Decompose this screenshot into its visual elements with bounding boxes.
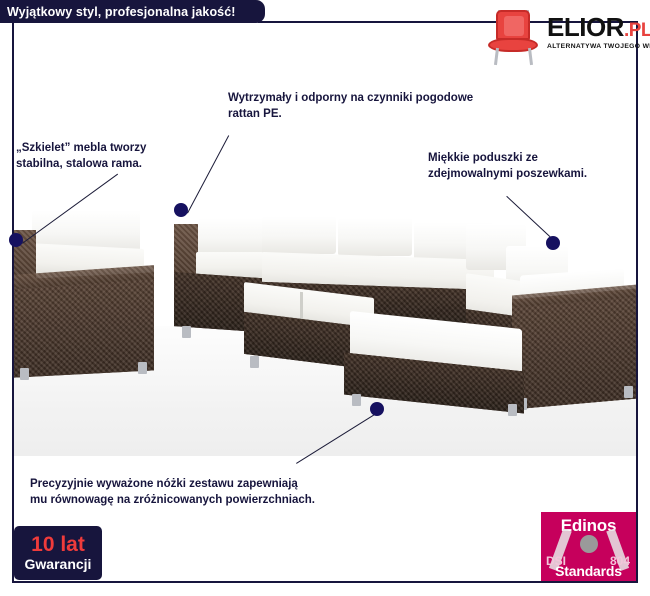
callout-dot-legs	[370, 402, 384, 416]
armchair-foot-right	[138, 362, 147, 374]
red-chair-icon	[486, 8, 542, 66]
module-left-foot	[182, 326, 191, 338]
banner-title: Wyjątkowy styl, profesjonalna jakość!	[7, 5, 236, 19]
warranty-label: Gwarancji	[25, 557, 92, 572]
logo-brand-tld: .PL	[624, 20, 650, 41]
armchair-right-foot-right	[624, 386, 633, 398]
callout-text-frame: „Szkielet” mebla tworzy stabilna, stalow…	[16, 140, 226, 173]
frame-border-bottom	[12, 581, 638, 583]
armchair-right-body	[512, 288, 636, 409]
armchair-foot-left	[20, 368, 29, 380]
product-photo	[14, 24, 636, 456]
callout-dot-rattan	[174, 203, 188, 217]
table-foot-left	[250, 356, 259, 368]
sofa-back-cushion-2	[338, 218, 412, 256]
promo-infographic: Wyjątkowy styl, profesjonalna jakość! EL…	[0, 0, 650, 596]
logo-brand: ELIOR.PL	[547, 14, 643, 40]
callout-text-cushions: Miękkie poduszki ze zdejmowalnymi poszew…	[428, 150, 643, 183]
armchair-base	[14, 272, 154, 377]
logo-wordmark: ELIOR.PL ALTERNATYWA TWOJEGO WNĘTRZA	[547, 14, 643, 50]
callout-text-legs: Precyzyjnie wyważone nóżki zestawu zapew…	[30, 476, 430, 509]
logo-brand-text: ELIOR	[547, 12, 624, 42]
edinos-badge: Edinos DSI 804 Standards	[541, 512, 636, 581]
elior-logo[interactable]: ELIOR.PL ALTERNATYWA TWOJEGO WNĘTRZA	[483, 8, 643, 68]
header-banner: Wyjątkowy styl, profesjonalna jakość!	[0, 0, 265, 23]
armchair-left	[14, 210, 152, 390]
sofa-back-cushion-1	[262, 216, 336, 254]
callout-text-rattan: Wytrzymały i odporny na czynniki pogodow…	[228, 90, 548, 123]
ottoman-foot-left	[352, 394, 361, 406]
ottoman-foot-right	[508, 404, 517, 416]
armchair-right	[512, 272, 636, 420]
callout-dot-frame	[9, 233, 23, 247]
warranty-years: 10 lat	[31, 534, 85, 555]
frame-border-right	[636, 22, 638, 583]
logo-tagline: ALTERNATYWA TWOJEGO WNĘTRZA	[547, 43, 645, 50]
warranty-badge: 10 lat Gwarancji	[14, 526, 102, 580]
callout-dot-cushions	[546, 236, 560, 250]
edinos-standards-label: Standards	[541, 563, 636, 579]
